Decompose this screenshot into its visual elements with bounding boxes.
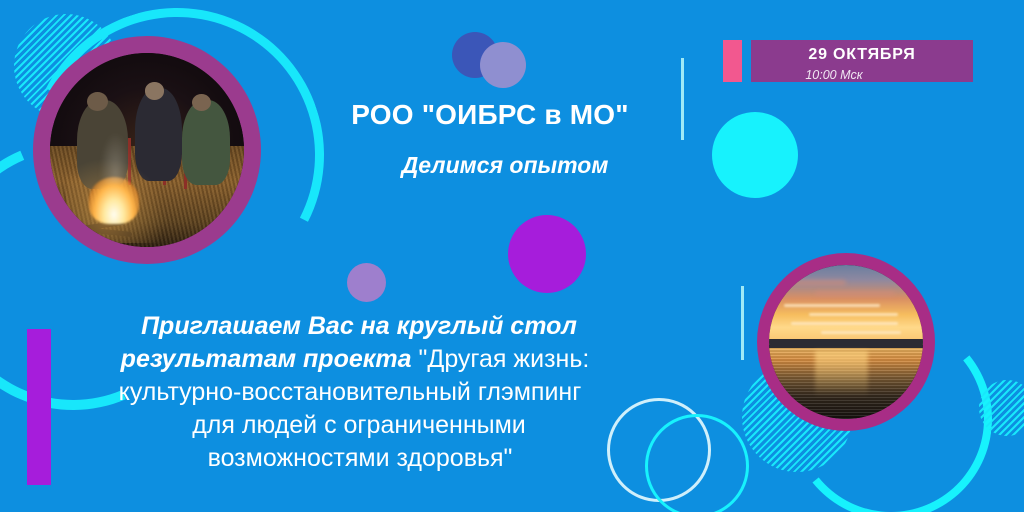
organization-title: РОО "ОИБРС в МО" [300,100,680,131]
poster-canvas: 29 ОКТЯБРЯ 10:00 Мск РОО "ОИБРС в МО" Де… [0,0,1024,512]
body-line-4: для людей с ограниченными [60,409,640,442]
body-text: Приглашаем Вас на круглый стол результат… [60,310,640,475]
divider-line-middle [741,286,744,360]
heading-block: РОО "ОИБРС в МО" Делимся опытом [300,100,680,178]
body-line-5: возможностями здоровья" [60,442,640,475]
organization-tagline: Делимся опытом [300,131,680,178]
sunset-photo [769,265,923,419]
campfire-photo [50,53,244,247]
body-line-1-emphasis: Приглашаем Вас на круглый стол [141,312,577,340]
body-line-2-emphasis: результатам проекта [121,345,412,373]
campfire-photo-ring [33,36,261,264]
date-badge-time: 10:00 Мск [751,63,973,82]
sunset-photo-ring [757,253,935,431]
circle-accent-purple [508,215,586,293]
purple-accent-bar [27,329,51,485]
body-line-2-rest: "Другая жизнь: [412,345,590,373]
body-line-3: культурно-восстановительный глэмпинг [60,376,640,409]
circle-accent-violet-halftone [347,263,386,302]
body-line-1: Приглашаем Вас на круглый стол [60,310,640,343]
ring-outline-cyan [645,414,749,512]
circle-accent-cyan [712,112,798,198]
circle-accent-halftone [480,42,526,88]
divider-line-top [681,58,684,140]
date-badge: 29 ОКТЯБРЯ 10:00 Мск [751,40,973,82]
body-line-2: результатам проекта "Другая жизнь: [60,343,640,376]
date-badge-accent-bar [723,40,742,82]
date-badge-date: 29 ОКТЯБРЯ [751,40,973,63]
